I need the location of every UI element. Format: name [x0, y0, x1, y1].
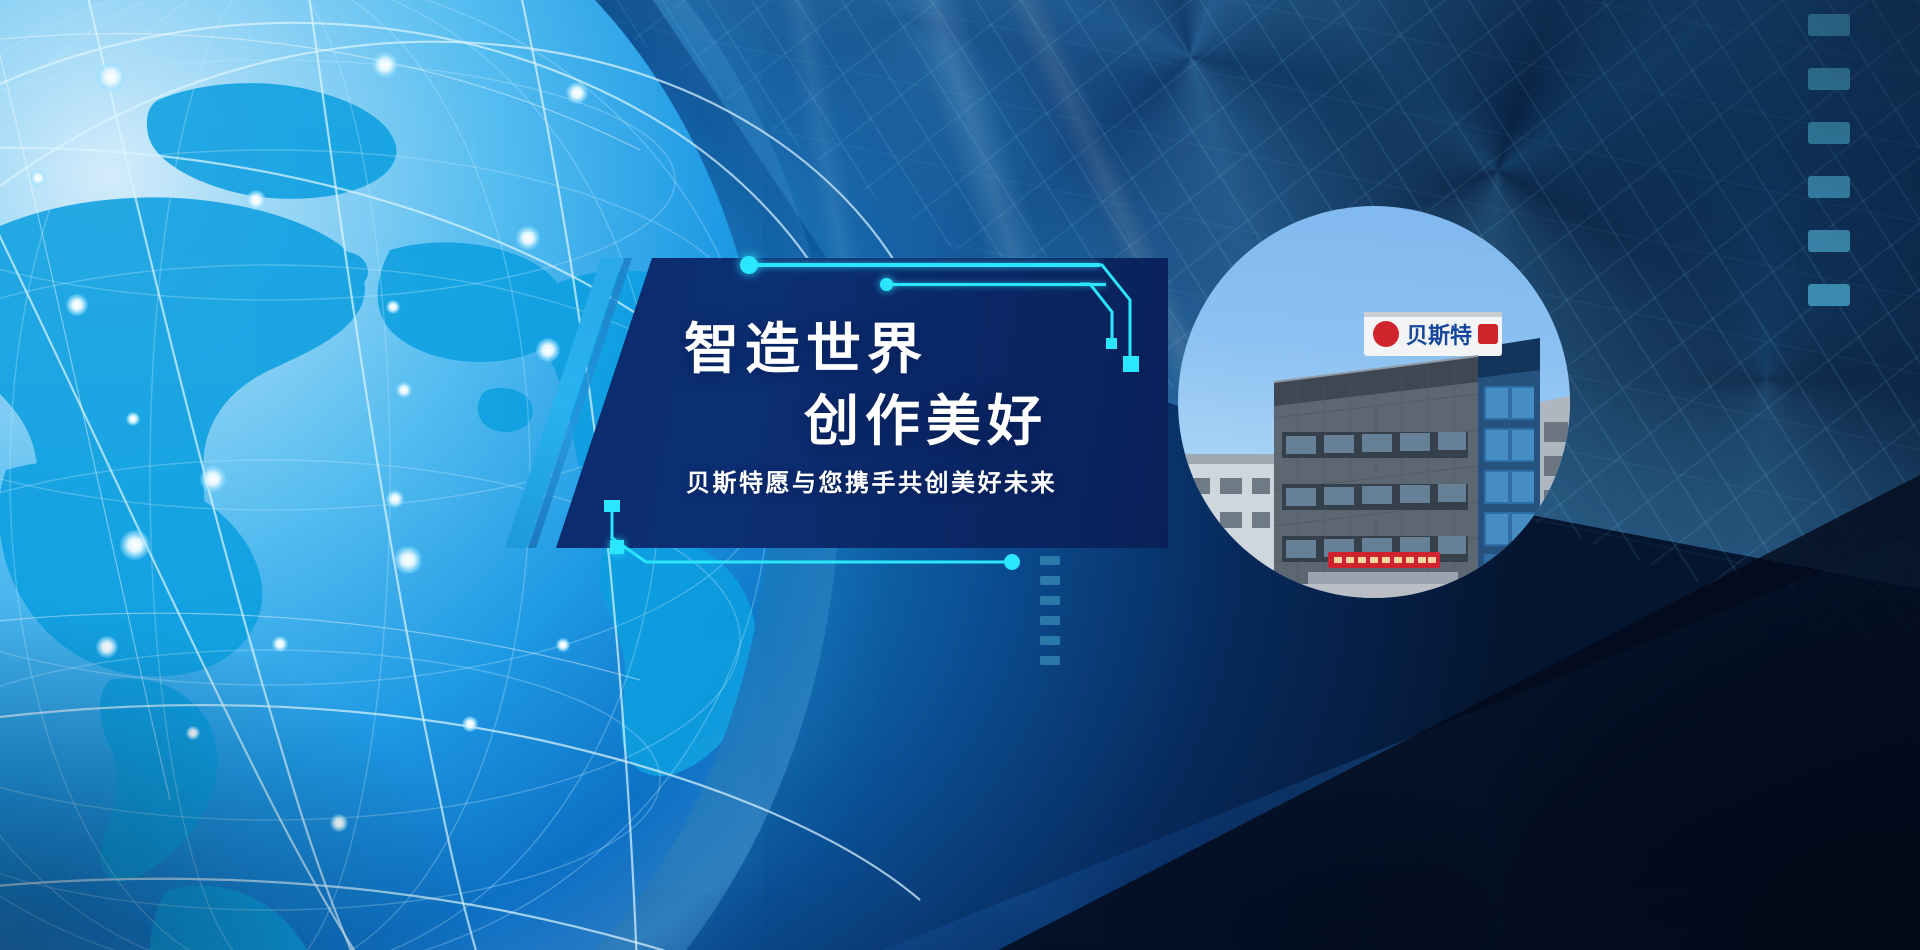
banner-root: 贝斯特	[0, 0, 1920, 950]
vignette-overlay	[0, 0, 1920, 950]
